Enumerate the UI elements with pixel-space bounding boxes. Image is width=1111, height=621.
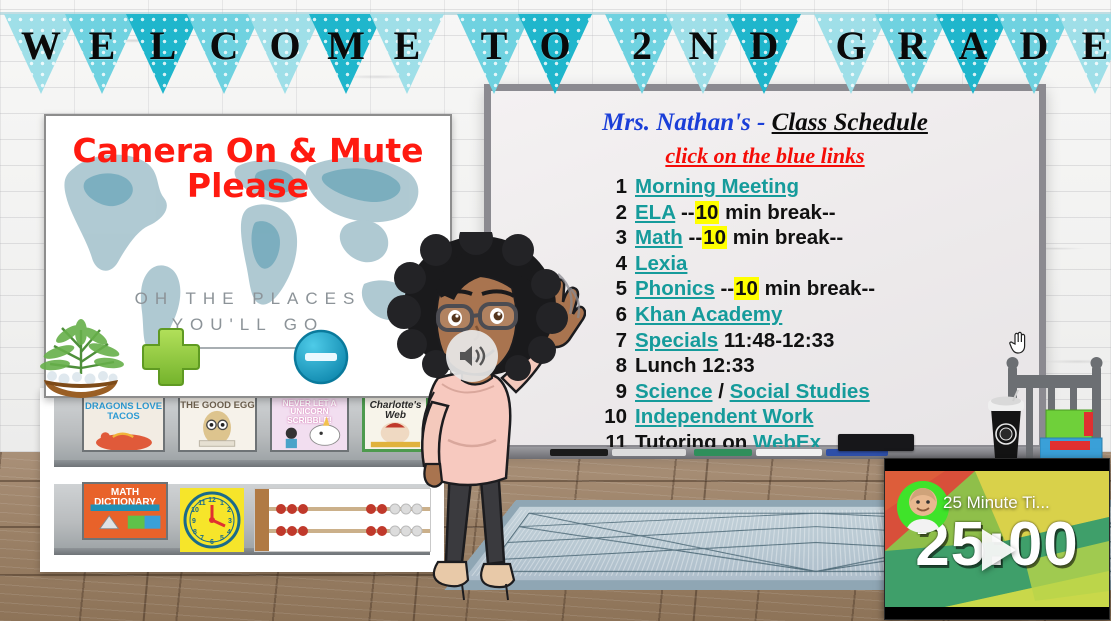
title-separator: - xyxy=(751,109,772,136)
svg-text:7: 7 xyxy=(200,535,204,542)
book-never-let-a-unicorn-scribble: NEVER LET A UNICORN SCRIBBLE! xyxy=(270,394,349,452)
schedule-link[interactable]: Lexia xyxy=(635,252,687,275)
schedule-row-number: 10 xyxy=(601,405,627,429)
pennant-letter: D xyxy=(727,26,801,66)
poster-headline: Camera On & Mute Please xyxy=(46,134,450,203)
schedule-plain-text: min break-- xyxy=(719,201,835,224)
schedule-row-number: 4 xyxy=(601,252,627,276)
poster-headline-line1: Camera On & Mute xyxy=(46,134,450,169)
schedule-link[interactable]: Specials xyxy=(635,329,718,352)
schedule-row-number: 7 xyxy=(601,329,627,353)
potted-fern xyxy=(28,308,134,400)
title-rest: Class Schedule xyxy=(772,109,928,136)
schedule-row-text: Specials 11:48-12:33 xyxy=(635,329,834,353)
video-thumbnail: 25 Minute Ti... 25:00 xyxy=(885,471,1109,607)
svg-text:12: 12 xyxy=(208,497,216,504)
schedule-link[interactable]: Khan Academy xyxy=(635,303,782,326)
schedule-row-text: ELA --10 min break-- xyxy=(635,201,836,225)
svg-text:11: 11 xyxy=(198,500,206,507)
pennant-letter: E xyxy=(370,26,444,66)
duration-highlight: 10 xyxy=(734,277,759,300)
schedule-plain-text: 11:48-12:33 xyxy=(718,329,834,352)
schedule-row: 5Phonics --10 min break-- xyxy=(601,277,875,303)
schedule-link[interactable]: Science xyxy=(635,380,713,403)
banner-pennant: O xyxy=(518,14,592,94)
welcome-banner: WELCOMETO2NDGRADE xyxy=(0,0,1111,104)
schedule-row: 2ELA --10 min break-- xyxy=(601,201,875,227)
book-dragons-love-tacos: DRAGONS LOVE TACOS xyxy=(82,394,165,452)
schedule-row: 3Math --10 min break-- xyxy=(601,226,875,252)
schedule-row-number: 2 xyxy=(601,201,627,225)
schedule-row: 6Khan Academy xyxy=(601,303,875,329)
schedule-plain-text: -- xyxy=(675,201,694,224)
timer-video-card[interactable]: 25 Minute Ti... 25:00 xyxy=(884,458,1110,620)
coffee-cup xyxy=(985,390,1027,460)
schedule-row: 7Specials 11:48-12:33 xyxy=(601,329,875,355)
schedule-link[interactable]: Morning Meeting xyxy=(635,175,799,198)
schedule-link[interactable]: ELA xyxy=(635,201,675,224)
schedule-row-text: Morning Meeting xyxy=(635,175,799,199)
schedule-plain-text: / xyxy=(713,380,730,403)
svg-text:8: 8 xyxy=(193,529,197,536)
pennant-letter: O xyxy=(518,26,592,66)
classroom-scene: Camera On & Mute Please OH THE PLACES YO… xyxy=(0,0,1111,621)
schedule-plain-text: -- xyxy=(715,277,734,300)
minus-icon[interactable] xyxy=(292,328,350,386)
schedule-row-text: Lexia xyxy=(635,252,687,276)
plus-icon[interactable] xyxy=(140,326,202,388)
schedule-row-number: 9 xyxy=(601,380,627,404)
speaker-icon xyxy=(457,343,487,369)
poster-headline-line2: Please xyxy=(46,169,450,204)
audio-speaker-badge[interactable] xyxy=(446,330,498,382)
schedule-link[interactable]: Math xyxy=(635,226,683,249)
banner-pennant: E xyxy=(370,14,444,94)
schedule-row-number: 3 xyxy=(601,226,627,250)
schedule-row-text: Science / Social Studies xyxy=(635,380,870,404)
schedule-row: 10Independent Work xyxy=(601,405,875,431)
schedule-row: 4Lexia xyxy=(601,252,875,278)
schedule-title: Mrs. Nathan's - Class Schedule xyxy=(491,109,1039,137)
teacher-bitmoji xyxy=(376,232,586,604)
schedule-row: 9Science / Social Studies xyxy=(601,380,875,406)
schedule-plain-text: -- xyxy=(683,226,702,249)
duration-highlight: 10 xyxy=(695,201,720,224)
duration-highlight: 10 xyxy=(702,226,727,249)
schedule-row-text: Lunch 12:33 xyxy=(635,354,755,378)
schedule-row-text: Independent Work xyxy=(635,405,813,429)
schedule-plain-text: min break-- xyxy=(759,277,875,300)
schedule-link[interactable]: Social Studies xyxy=(730,380,870,403)
schedule-row-number: 5 xyxy=(601,277,627,301)
schedule-row: 1Morning Meeting xyxy=(601,175,875,201)
teacher-name: Mrs. Nathan's xyxy=(602,109,751,136)
video-title: 25 Minute Ti... xyxy=(943,493,1050,513)
svg-text:10: 10 xyxy=(191,507,199,514)
play-button[interactable] xyxy=(982,529,1016,571)
book-the-good-egg: THE GOOD EGG xyxy=(178,394,257,452)
svg-text:9: 9 xyxy=(192,518,196,525)
whiteboard-eraser xyxy=(838,434,914,451)
svg-text:4: 4 xyxy=(227,529,231,536)
banner-pennant: E xyxy=(1058,14,1111,94)
schedule-row-number: 1 xyxy=(601,175,627,199)
teaching-clock: 123 69 12 45 78 1011 xyxy=(180,488,244,552)
schedule-link[interactable]: Phonics xyxy=(635,277,715,300)
banner-pennant: D xyxy=(727,14,801,94)
svg-text:6: 6 xyxy=(210,539,214,546)
svg-text:2: 2 xyxy=(227,507,231,514)
schedule-list: 1Morning Meeting2ELA --10 min break--3Ma… xyxy=(601,175,875,457)
svg-text:1: 1 xyxy=(220,500,224,507)
stacked-books xyxy=(1040,408,1111,460)
book-math-dictionary: MATH DICTIONARY xyxy=(82,482,168,540)
schedule-row-text: Phonics --10 min break-- xyxy=(635,277,875,301)
schedule-row-text: Khan Academy xyxy=(635,303,782,327)
schedule-row-text: Math --10 min break-- xyxy=(635,226,843,250)
pennant-letter: E xyxy=(1058,26,1111,66)
schedule-row: 8Lunch 12:33 xyxy=(601,354,875,380)
channel-avatar xyxy=(897,481,949,533)
schedule-plain-text: Lunch 12:33 xyxy=(635,354,755,377)
schedule-row-number: 6 xyxy=(601,303,627,327)
schedule-plain-text: min break-- xyxy=(727,226,843,249)
svg-text:3: 3 xyxy=(228,518,232,525)
schedule-subtitle: click on the blue links xyxy=(491,143,1039,169)
svg-text:5: 5 xyxy=(220,535,224,542)
schedule-row-number: 8 xyxy=(601,354,627,378)
schedule-link[interactable]: Independent Work xyxy=(635,405,813,428)
